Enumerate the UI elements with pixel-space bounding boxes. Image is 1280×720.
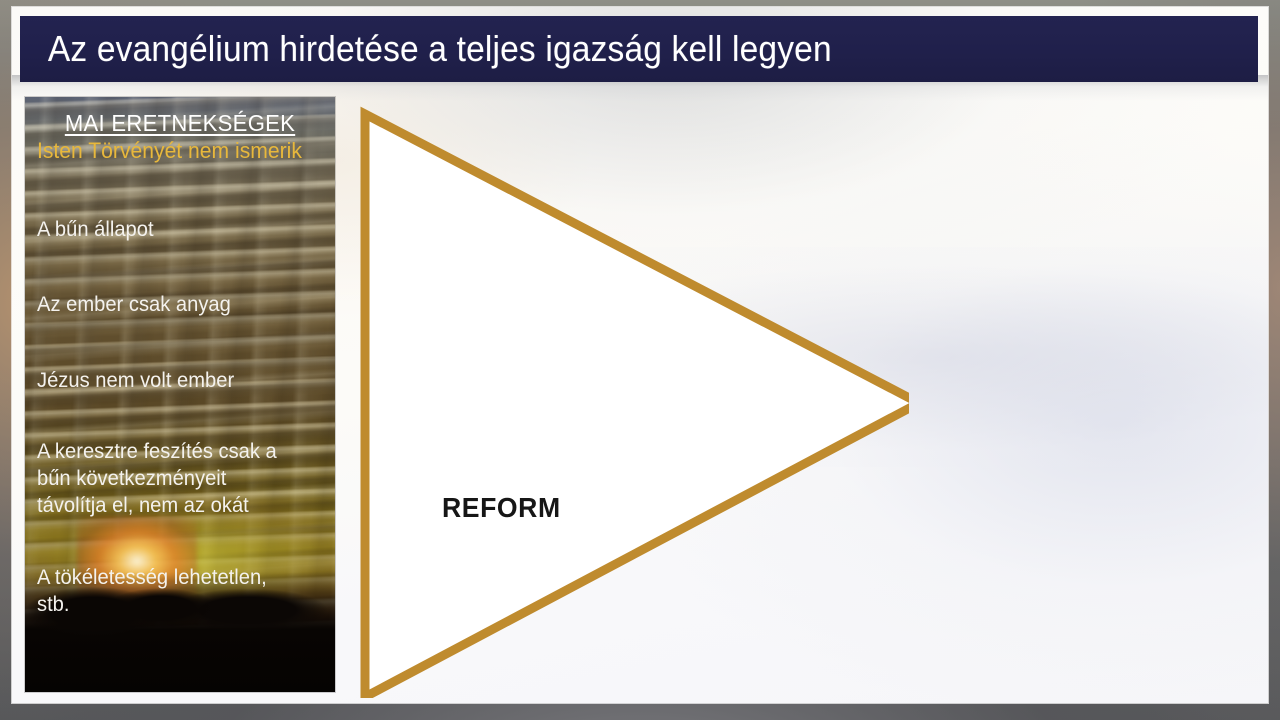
- spacer: [37, 520, 323, 564]
- page-title: Az evangélium hirdetése a teljes igazság…: [20, 28, 832, 70]
- list-item-line: bűn következményeit: [37, 465, 312, 492]
- list-item: Az ember csak anyag: [37, 291, 312, 318]
- reform-arrow: REFORM: [339, 98, 909, 698]
- list-item: A tökéletesség lehetetlen, stb.: [37, 564, 312, 619]
- list-item: A keresztre feszítés csak a bűn következ…: [37, 438, 312, 520]
- list-item: A bűn állapot: [37, 216, 312, 243]
- heresy-text-block: MAI ERETNEKSÉGEK Isten Törvényét nem ism…: [25, 97, 335, 692]
- heresy-subtitle: Isten Törvényét nem ismerik: [37, 138, 312, 164]
- triangle-arrow-icon: [339, 98, 909, 698]
- heresy-photo-panel: MAI ERETNEKSÉGEK Isten Törvényét nem ism…: [25, 97, 335, 692]
- reform-label: REFORM: [442, 492, 561, 524]
- list-item: Jézus nem volt ember: [37, 367, 312, 394]
- slide-viewer: Az evangélium hirdetése a teljes igazság…: [0, 0, 1280, 720]
- slide-canvas: Az evangélium hirdetése a teljes igazság…: [12, 7, 1268, 703]
- list-item-line: A keresztre feszítés csak a: [37, 438, 312, 465]
- heresy-list-heading: MAI ERETNEKSÉGEK: [43, 110, 318, 137]
- list-item-line: stb.: [37, 591, 312, 618]
- spacer: [37, 319, 323, 367]
- list-item-line: A tökéletesség lehetetlen,: [37, 564, 312, 591]
- list-item-line: távolítja el, nem az okát: [37, 492, 312, 519]
- spacer: [37, 164, 323, 216]
- spacer: [37, 394, 323, 438]
- triangle-shape: [365, 114, 909, 697]
- slide-title-bar: Az evangélium hirdetése a teljes igazság…: [20, 16, 1258, 82]
- spacer: [37, 243, 323, 291]
